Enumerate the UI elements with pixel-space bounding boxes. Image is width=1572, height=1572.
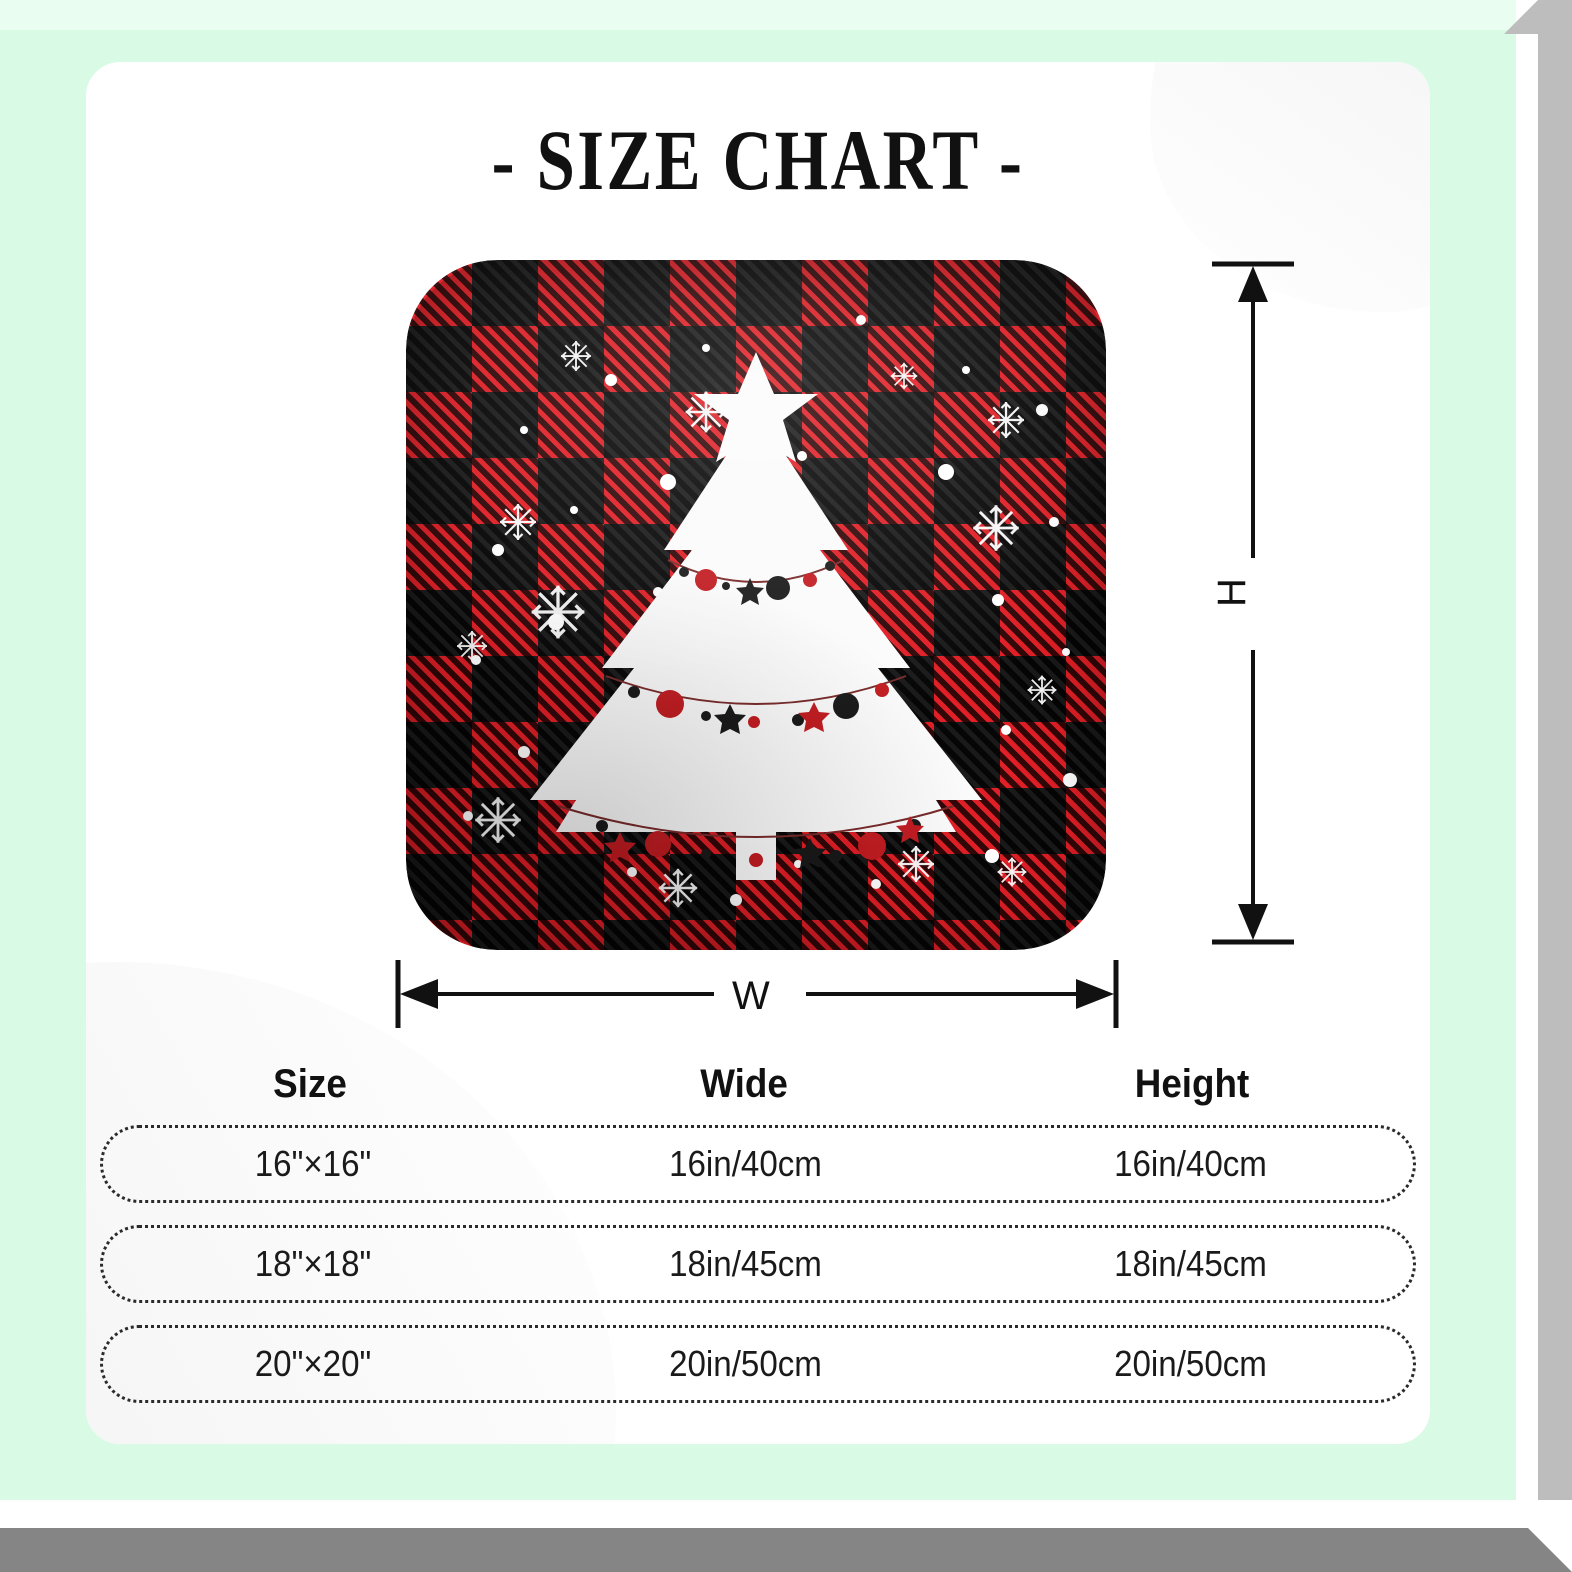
product-image <box>406 260 1106 950</box>
cell-size: 16"×16" <box>120 1143 506 1185</box>
right-scrollbar-rail[interactable] <box>1538 0 1572 1500</box>
column-header-height: Height <box>986 1062 1398 1107</box>
bottom-bar-bevel <box>1528 1528 1572 1572</box>
table-header-row: Size Wide Height <box>86 1062 1430 1125</box>
cell-size: 20"×20" <box>120 1343 506 1385</box>
cell-wide: 20in/50cm <box>541 1343 950 1385</box>
table-row[interactable]: 20"×20" 20in/50cm 20in/50cm <box>100 1325 1416 1403</box>
column-header-size: Size <box>117 1062 503 1107</box>
page-title: - SIZE CHART - <box>220 110 1295 210</box>
background-top-band <box>0 0 1516 30</box>
height-label: H <box>1210 578 1255 607</box>
size-chart-page: - SIZE CHART - <box>0 0 1572 1572</box>
height-dimension: H <box>1178 258 1328 948</box>
cell-wide: 16in/40cm <box>541 1143 950 1185</box>
right-gutter <box>1516 0 1538 1540</box>
bottom-status-bar <box>0 1528 1528 1572</box>
pillow-plaid-fabric <box>406 260 1106 950</box>
pillow-print-artwork <box>406 260 1106 950</box>
christmas-tree-motif <box>530 352 982 880</box>
table-row[interactable]: 18"×18" 18in/45cm 18in/45cm <box>100 1225 1416 1303</box>
table-row[interactable]: 16"×16" 16in/40cm 16in/40cm <box>100 1125 1416 1203</box>
width-dimension: W <box>392 952 1122 1038</box>
cell-height: 16in/40cm <box>986 1143 1395 1185</box>
cell-height: 20in/50cm <box>986 1343 1395 1385</box>
size-table: Size Wide Height 16"×16" 16in/40cm 16in/… <box>86 1062 1430 1425</box>
size-chart-card: - SIZE CHART - <box>86 62 1430 1444</box>
cell-size: 18"×18" <box>120 1243 506 1285</box>
column-header-wide: Wide <box>538 1062 950 1107</box>
right-rail-bevel <box>1504 0 1538 34</box>
cell-height: 18in/45cm <box>986 1243 1395 1285</box>
cell-wide: 18in/45cm <box>541 1243 950 1285</box>
width-label: W <box>732 974 770 1019</box>
